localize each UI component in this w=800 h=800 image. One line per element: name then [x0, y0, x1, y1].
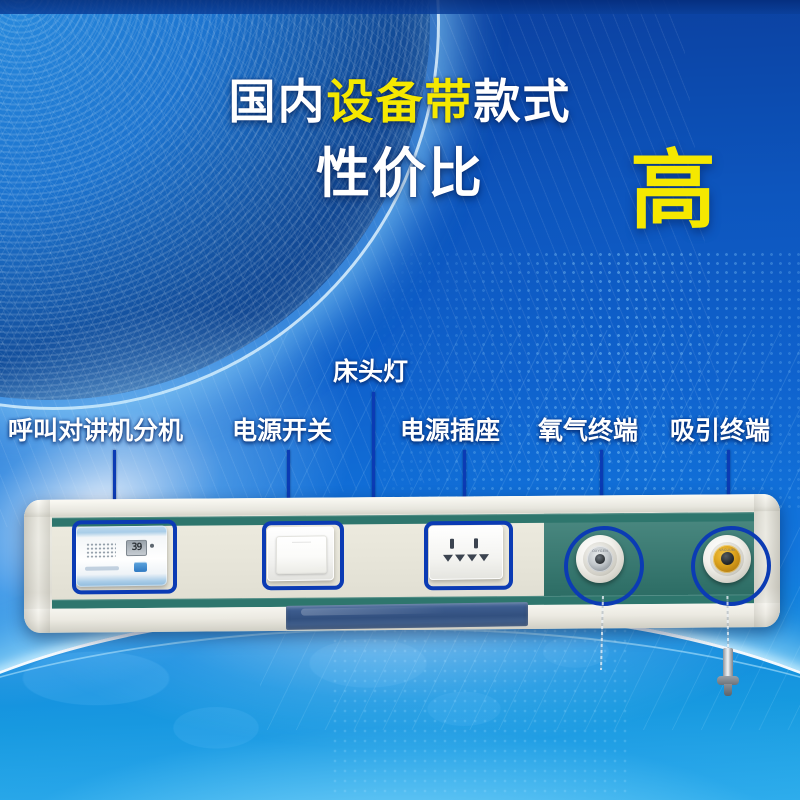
status-led-icon — [150, 544, 154, 548]
socket-slot-icon — [455, 555, 465, 562]
socket-face — [441, 536, 491, 570]
intercom-call-button[interactable] — [134, 562, 147, 572]
socket-slot-icon — [443, 555, 453, 562]
oxygen-terminal-device[interactable]: OXYGEN — [576, 535, 624, 583]
oxygen-port-hole[interactable] — [595, 554, 605, 564]
rocker-paddle[interactable] — [276, 535, 327, 574]
power-switch-device[interactable] — [267, 526, 334, 581]
promo-banner: 国内设备带款式 性价比 高 呼叫对讲机分机 电源开关 床头灯 电源插座 氧气终端… — [0, 0, 800, 800]
power-socket-device[interactable] — [429, 525, 503, 580]
callout-label-bed-lamp: 床头灯 — [333, 360, 408, 385]
unit-end-cap-left — [24, 500, 50, 633]
socket-slot-icon — [474, 538, 478, 548]
socket-slot-icon — [479, 554, 489, 561]
speaker-grille-icon — [86, 542, 116, 557]
flowmeter-tip — [724, 684, 732, 696]
intercom-display: 39 — [126, 540, 147, 556]
nurse-call-intercom-device[interactable]: 39 — [76, 525, 167, 586]
bed-lamp-lens[interactable] — [286, 602, 528, 630]
callout-label-power-socket: 电源插座 — [400, 419, 500, 444]
suction-terminal-device[interactable]: VACUUM — [703, 535, 751, 583]
callout-label-suction-terminal: 吸引终端 — [670, 419, 770, 444]
unit-end-cap-right — [754, 494, 780, 627]
socket-slot-icon — [467, 554, 477, 561]
intercom-label-slot — [85, 566, 119, 571]
callout-label-nurse-call-intercom: 呼叫对讲机分机 — [8, 419, 183, 444]
bed-head-unit: 39 — [24, 497, 780, 630]
callout-layer: 呼叫对讲机分机 电源开关 床头灯 电源插座 氧气终端 吸引终端 — [0, 0, 800, 800]
unit-face-layer: 39 — [24, 494, 780, 633]
suction-port-hole[interactable] — [721, 552, 734, 565]
oxygen-marking-text: OXYGEN — [587, 549, 613, 553]
callout-label-oxygen-terminal: 氧气终端 — [538, 419, 638, 444]
socket-slot-icon — [450, 539, 454, 549]
callout-label-power-switch: 电源开关 — [232, 419, 332, 444]
